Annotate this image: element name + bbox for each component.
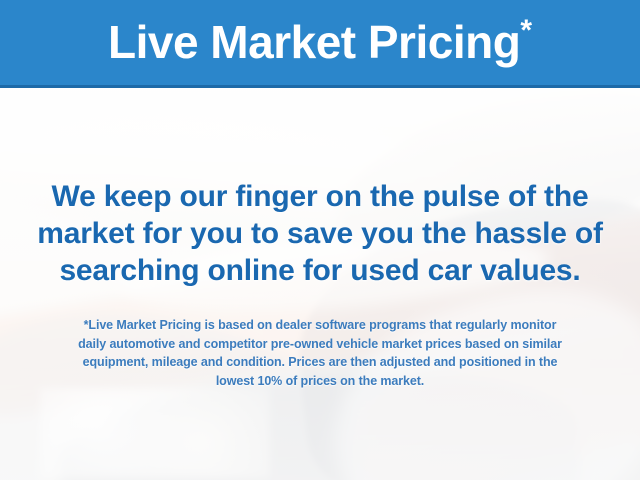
page-title-text: Live Market Pricing xyxy=(108,16,520,68)
headline-line-1: We keep our finger on the pulse of the xyxy=(0,178,640,215)
headline-line-3: searching online for used car values. xyxy=(0,252,640,289)
disclaimer-line-1: *Live Market Pricing is based on dealer … xyxy=(30,316,610,335)
disclaimer-line-2: daily automotive and competitor pre-owne… xyxy=(30,335,610,354)
header-banner: Live Market Pricing* xyxy=(0,0,640,88)
disclaimer-text: *Live Market Pricing is based on dealer … xyxy=(30,316,610,390)
page-title-asterisk: * xyxy=(520,14,532,47)
live-market-pricing-slide: Live Market Pricing* We keep our finger … xyxy=(0,0,640,480)
disclaimer-line-4: lowest 10% of prices on the market. xyxy=(30,372,610,391)
headline-line-2: market for you to save you the hassle of xyxy=(0,215,640,252)
disclaimer-line-3: equipment, mileage and condition. Prices… xyxy=(30,353,610,372)
page-title: Live Market Pricing* xyxy=(108,16,532,69)
headline: We keep our finger on the pulse of the m… xyxy=(0,178,640,289)
